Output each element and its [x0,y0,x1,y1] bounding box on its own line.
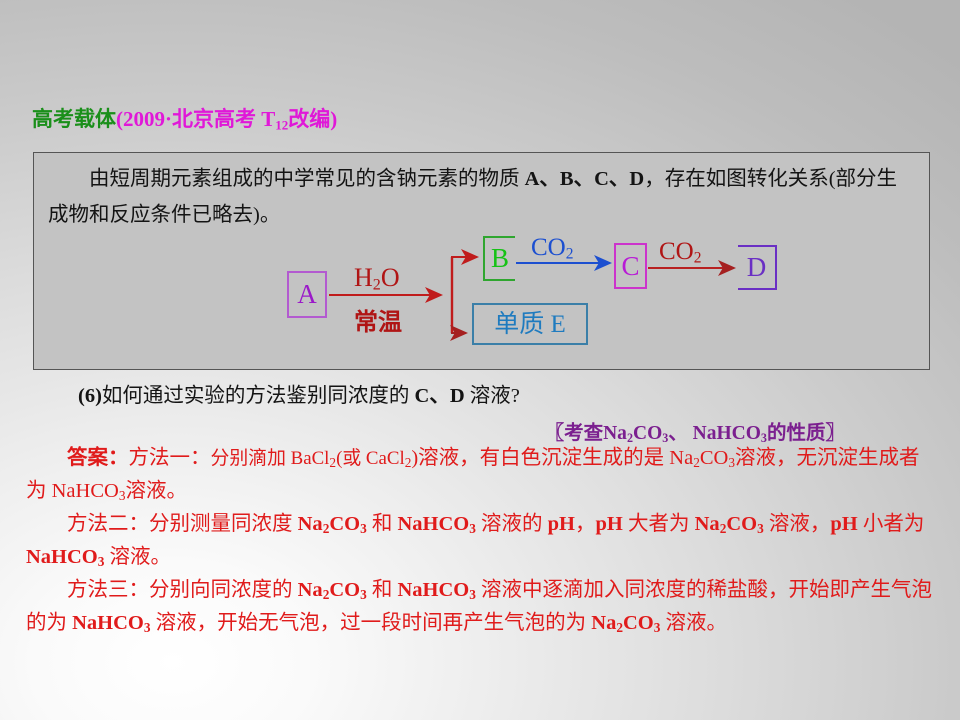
m2f1-mid: CO [329,513,360,535]
reagent-co2-second-text: CO [659,238,694,265]
reagent-water-o: O [381,263,400,292]
diagram-reagent-water: H2O [354,265,400,294]
question-six-line: (6)如何通过实验的方法鉴别同浓度的 C、D 溶液? [78,378,520,408]
method-two-body-e: 大者为 [623,513,695,535]
answer-method-two: 方法二：分别测量同浓度 Na2CO3 和 NaHCO3 溶液的 pH，pH 大者… [26,510,936,576]
m3f1-sub2: 3 [360,587,367,602]
method-two-formula-1: Na2CO3 [298,513,367,535]
method-one-body-d: CO [700,447,728,469]
method-one-body-f: 溶液。 [125,480,187,502]
m2f1-text: Na [298,513,323,535]
m3f4-text: Na [591,612,616,634]
title-source-subscript: 12 [275,117,288,132]
method-one-label: 方法一： [129,447,211,469]
diagram-node-d: D [738,245,777,290]
slide-title: 高考载体(2009·北京高考 T12改编) [32,103,337,133]
answer-method-one: 答案：方法一：分别滴加 BaCl2(或 CaCl2)溶液，有白色沉淀生成的是 N… [26,444,936,510]
m2f4-text: NaHCO [26,546,98,568]
method-two-ph-3: pH [830,513,857,535]
method-two-ph-2: pH [596,513,623,535]
diagram-node-e: 单质 E [472,303,588,345]
method-two-body-c: 溶液的 [476,513,548,535]
m2f3-text: Na [695,513,720,535]
method-three-formula-4: Na2CO3 [591,612,660,634]
diagram-condition-roomtemp: 常温 [354,311,402,335]
question-number: (6) [78,385,102,407]
method-three-formula-3: NaHCO3 [72,612,150,634]
tag-mid-1: CO [633,423,662,444]
method-three-formula-2: NaHCO3 [398,579,476,601]
reagent-co2-first-sub: 2 [566,245,574,262]
diagram-reagent-co2-second: CO2 [659,239,701,266]
method-two-body-a: 分别测量同浓度 [149,513,298,535]
method-two-body-f: 溶液， [764,513,831,535]
method-two-ph-1: pH [548,513,575,535]
title-source-text: (2009·北京高考 T12改编) [116,107,337,131]
reagent-co2-second-sub: 2 [694,249,702,266]
tag-suffix: 的性质 [767,423,826,444]
method-three-body-b: 和 [367,579,398,601]
reagent-water-h: H [354,263,373,292]
tag-prefix: 考查Na [564,423,627,444]
diagram-reagent-co2-first: CO2 [531,235,573,262]
problem-stem-box: 由短周期元素组成的中学常见的含钠元素的物质 A、B、C、D，存在如图转化关系(部… [33,152,930,370]
m2f2-text: NaHCO [398,513,470,535]
question-text: 如何通过实验的方法鉴别同浓度的 [102,385,415,407]
m3f2-text: NaHCO [398,579,470,601]
slide-canvas: 高考载体(2009·北京高考 T12改编) 由短周期元素组成的中学常见的含钠元素… [0,0,960,720]
method-one-body-c: )溶液，有白色沉淀生成的是 Na [411,447,693,469]
knowledge-point-tag: 〖考查Na2CO3、 NaHCO3的性质〗 [0,416,845,446]
reagent-co2-first-text: CO [531,234,566,261]
m3f4-sub1: 2 [616,620,623,635]
problem-stem-text: 由短周期元素组成的中学常见的含钠元素的物质 A、B、C、D，存在如图转化关系(部… [48,161,916,233]
method-three-body-a: 分别向同浓度的 [149,579,298,601]
reaction-flow-diagram: A B C D 单质 E H2O 常温 CO2 CO2 [34,235,931,363]
diagram-node-b: B [483,236,515,281]
answer-head-label: 答案： [67,447,129,469]
method-two-body-d: ， [575,513,596,535]
method-one-sub-c: 2 [693,455,700,470]
tag-mid-2: 、 NaHCO [668,423,761,444]
stem-lead-tail: ，存在如 [644,168,726,190]
title-source-prefix: (2009·北京高考 T [116,107,275,131]
m2f3-mid: CO [726,513,757,535]
stem-lead-text: 由短周期元素组成的中学常见的含钠元素的物质 [89,168,525,190]
method-three-label: 方法三： [67,579,149,601]
m3f4-mid: CO [623,612,654,634]
m3f1-text: Na [298,579,323,601]
method-two-formula-3: Na2CO3 [695,513,764,535]
m2f1-sub2: 3 [360,521,367,536]
method-two-label: 方法二： [67,513,149,535]
method-three-formula-1: Na2CO3 [298,579,367,601]
answer-block: 答案：方法一：分别滴加 BaCl2(或 CaCl2)溶液，有白色沉淀生成的是 N… [26,444,936,642]
method-one-body-a: 分别滴加 BaCl [211,448,330,469]
m3f3-text: NaHCO [72,612,144,634]
question-tail: 溶液? [465,385,520,407]
diagram-node-c: C [614,243,647,289]
tag-open-bracket: 〖 [545,423,565,444]
m3f3-sub: 3 [144,620,151,635]
method-two-body-h: 溶液。 [104,546,171,568]
title-source-suffix: 改编) [288,107,337,131]
method-two-body-g: 小者为 [858,513,925,535]
title-green-text: 高考载体 [32,107,116,131]
m2f3-sub2: 3 [757,521,764,536]
diagram-node-a: A [287,271,327,318]
method-two-formula-2: NaHCO3 [398,513,476,535]
answer-method-three: 方法三：分别向同浓度的 Na2CO3 和 NaHCO3 溶液中逐滴加入同浓度的稀… [26,576,936,642]
method-three-body-e: 溶液。 [660,612,727,634]
m3f2-sub: 3 [469,587,476,602]
method-one-body-b: (或 CaCl [336,448,405,469]
method-two-body-b: 和 [367,513,398,535]
method-three-body-d: 溶液，开始无气泡，过一段时间再产生气泡的为 [151,612,592,634]
method-two-formula-4: NaHCO3 [26,546,104,568]
m3f1-mid: CO [329,579,360,601]
question-species: C、D [415,385,465,407]
reagent-water-sub: 2 [373,277,381,294]
m2f2-sub: 3 [469,521,476,536]
stem-species-list: A、B、C、D [525,168,645,190]
tag-close-bracket: 〗 [825,423,845,444]
